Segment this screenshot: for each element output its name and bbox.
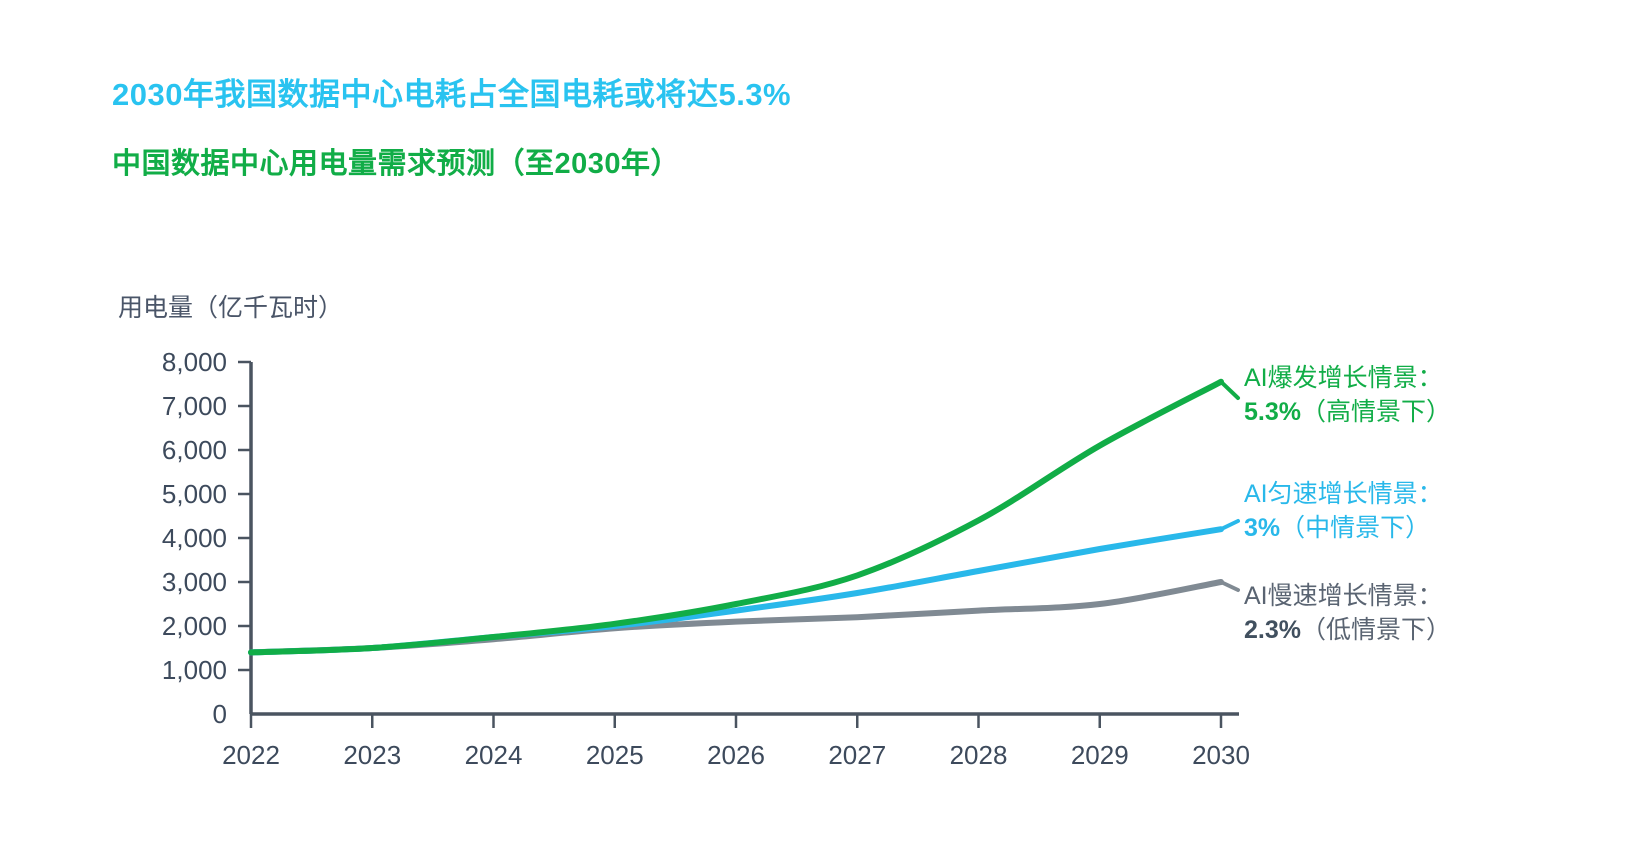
- y-tick-label: 2,000: [162, 611, 227, 641]
- annotation-mid-scenario: AI匀速增长情景： 3%（中情景下）: [1244, 478, 1443, 545]
- y-tick-label: 8,000: [162, 347, 227, 377]
- line-chart: 用电量（亿千瓦时） 8,0007,0006,0005,0004,0003,000…: [0, 0, 1626, 856]
- annotation-high-value: 5.3%（高情景下）: [1244, 396, 1451, 430]
- x-tick-label: 2022: [222, 740, 280, 770]
- series-line: [251, 582, 1221, 652]
- annotation-mid-percent: 3%: [1244, 514, 1280, 542]
- y-tick-label: 6,000: [162, 435, 227, 465]
- annotation-low-scenario: AI慢速增长情景： 2.3%（低情景下）: [1244, 580, 1451, 647]
- y-tick-label: 5,000: [162, 479, 227, 509]
- annotation-mid-label: AI匀速增长情景：: [1244, 478, 1443, 512]
- annotation-leader-line: [1221, 521, 1238, 529]
- annotation-low-rest: （低情景下）: [1301, 616, 1451, 644]
- annotation-high-label: AI爆发增长情景：: [1244, 362, 1451, 396]
- annotation-low-label: AI慢速增长情景：: [1244, 580, 1451, 614]
- x-tick-label: 2030: [1192, 740, 1250, 770]
- x-tick-label: 2023: [343, 740, 401, 770]
- annotation-high-percent: 5.3%: [1244, 398, 1301, 426]
- annotation-leader-line: [1221, 582, 1238, 590]
- y-tick-label: 0: [213, 699, 227, 729]
- y-axis-ticks: 8,0007,0006,0005,0004,0003,0002,0001,000…: [162, 347, 251, 729]
- annotation-mid-rest: （中情景下）: [1280, 514, 1430, 542]
- annotation-leader-line: [1221, 382, 1238, 398]
- annotation-leader-lines: [1221, 382, 1238, 590]
- y-tick-label: 4,000: [162, 523, 227, 553]
- y-tick-label: 3,000: [162, 567, 227, 597]
- annotation-mid-value: 3%（中情景下）: [1244, 512, 1443, 546]
- annotation-high-scenario: AI爆发增长情景： 5.3%（高情景下）: [1244, 362, 1451, 429]
- y-tick-label: 1,000: [162, 655, 227, 685]
- data-series-group: [251, 382, 1221, 653]
- x-tick-label: 2028: [950, 740, 1008, 770]
- x-tick-label: 2025: [586, 740, 644, 770]
- x-axis-ticks: 202220232024202520262027202820292030: [222, 714, 1250, 770]
- axis-lines: [251, 362, 1239, 714]
- annotation-high-rest: （高情景下）: [1301, 398, 1451, 426]
- x-tick-label: 2024: [465, 740, 523, 770]
- x-tick-label: 2029: [1071, 740, 1129, 770]
- series-line: [251, 529, 1221, 652]
- x-tick-label: 2026: [707, 740, 765, 770]
- annotation-low-percent: 2.3%: [1244, 616, 1301, 644]
- annotation-low-value: 2.3%（低情景下）: [1244, 614, 1451, 648]
- x-tick-label: 2027: [828, 740, 886, 770]
- y-tick-label: 7,000: [162, 391, 227, 421]
